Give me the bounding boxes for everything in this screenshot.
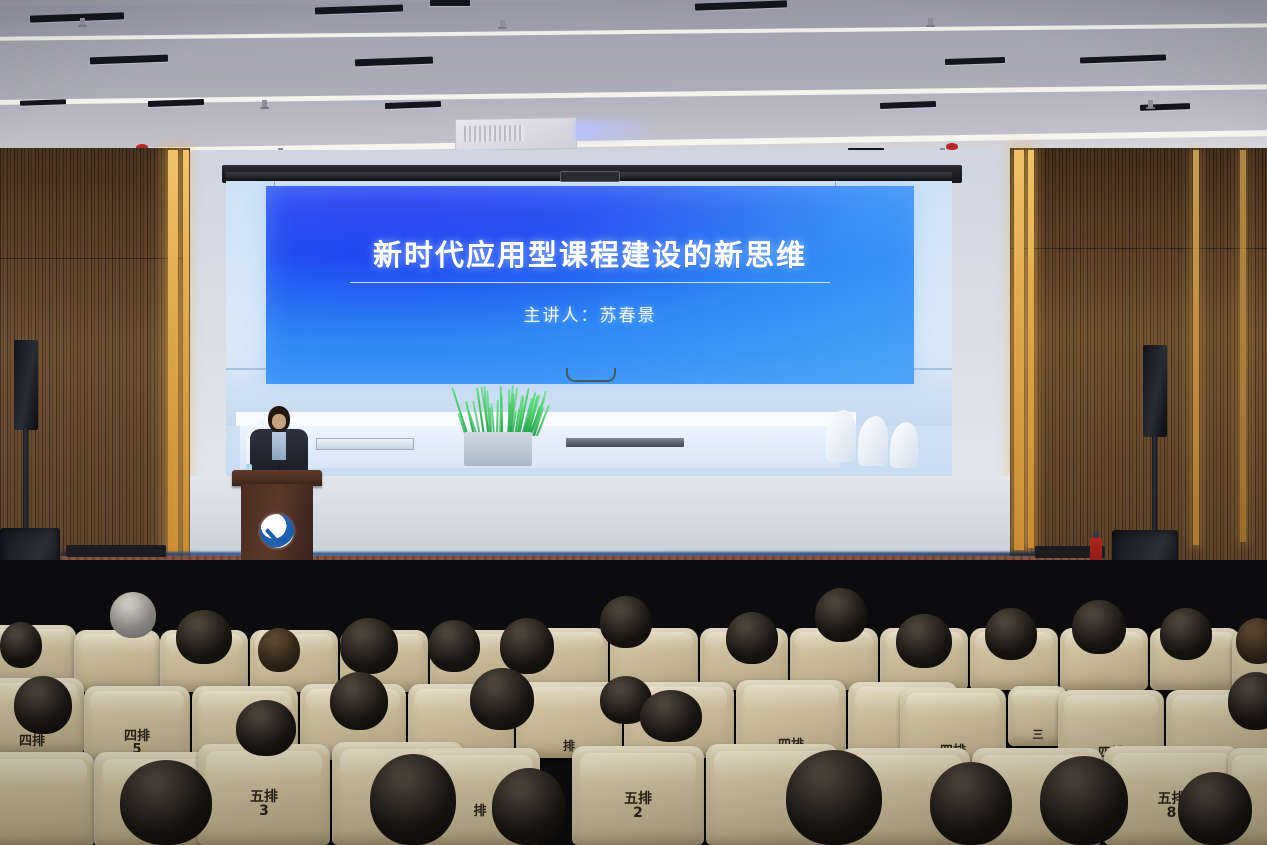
sprinkler-head	[500, 20, 505, 29]
audience-head	[340, 618, 398, 674]
accent-light-strip-right-3	[1193, 150, 1199, 545]
projected-potted-plant	[458, 384, 542, 436]
audience-head	[1160, 608, 1212, 660]
slide-divider	[350, 282, 830, 283]
wall-seam	[0, 258, 190, 259]
ceiling-light-strip	[430, 0, 470, 6]
audience-head	[640, 690, 702, 742]
seat	[0, 752, 94, 845]
seat	[74, 630, 160, 692]
accent-light-strip-left	[168, 150, 178, 562]
projected-chair	[858, 416, 888, 466]
ceiling-ac-unit	[455, 117, 578, 151]
smoke-detector	[946, 143, 958, 150]
presenter-shirt	[272, 432, 286, 460]
audience-head	[600, 596, 652, 648]
projected-chair	[826, 410, 856, 462]
accent-light-strip-left-2	[183, 150, 189, 560]
seat-label: 五排2	[572, 792, 704, 821]
seat-label: 四排	[0, 735, 84, 749]
audience-head	[726, 612, 778, 664]
seat-label: 五排3	[198, 790, 330, 819]
right-speaker-pole	[1152, 435, 1157, 530]
ac-unit-glow	[575, 119, 655, 140]
slide-title: 新时代应用型课程建设的新思维	[266, 232, 914, 274]
sprinkler-head	[928, 18, 933, 27]
audience-head	[0, 622, 42, 668]
audience-head	[330, 672, 388, 730]
seat: 四排5	[84, 686, 190, 762]
left-column-speaker	[14, 340, 38, 430]
sprinkler-head	[1148, 100, 1153, 109]
projected-laptop	[566, 438, 684, 447]
right-column-speaker	[1143, 345, 1167, 437]
presenter-face	[272, 414, 286, 429]
presentation-slide: 新时代应用型课程建设的新思维 主讲人：苏春景	[266, 186, 914, 384]
left-speaker-pole	[23, 428, 28, 528]
audience-head	[110, 592, 156, 638]
stage-floor-box	[66, 545, 166, 557]
audience-head	[815, 588, 867, 642]
slide-subtitle: 主讲人：苏春景	[266, 301, 914, 326]
audience-head	[14, 676, 72, 734]
audience-head	[236, 700, 296, 756]
audience-head	[896, 614, 952, 668]
university-emblem-icon	[260, 514, 294, 548]
audience-head	[1072, 600, 1126, 654]
projection-screen: 新时代应用型课程建设的新思维 主讲人：苏春景	[226, 172, 952, 476]
projected-plant-pot	[464, 432, 532, 466]
screen-pull-handle	[566, 368, 616, 382]
accent-light-strip-right-2	[1028, 150, 1034, 548]
audience-head	[1236, 618, 1267, 664]
projected-photo-background: 新时代应用型课程建设的新思维 主讲人：苏春景	[226, 172, 952, 476]
audience-head	[370, 754, 456, 845]
audience-head	[985, 608, 1037, 660]
projected-chair	[890, 422, 918, 468]
sprinkler-head	[80, 18, 85, 27]
audience-head	[1178, 772, 1252, 845]
audience-head	[786, 750, 882, 845]
wall-seam	[1010, 248, 1267, 249]
audience-head	[176, 610, 232, 664]
audience-head	[1040, 756, 1128, 845]
projected-notepad	[316, 438, 414, 450]
accent-light-strip-right	[1014, 150, 1024, 550]
audience-head	[428, 620, 480, 672]
audience-head	[500, 618, 554, 674]
ceiling	[0, 0, 1267, 160]
seat: 五排3	[198, 744, 330, 845]
audience-head	[470, 668, 534, 730]
slide-sheen	[266, 186, 914, 384]
accent-light-strip-right-4	[1240, 150, 1246, 542]
audience-head	[930, 762, 1012, 845]
sprinkler-head	[262, 100, 267, 109]
seat: 五排2	[572, 746, 704, 845]
lecture-hall-photo: 新时代应用型课程建设的新思维 主讲人：苏春景	[0, 0, 1267, 845]
audience-head	[258, 628, 300, 672]
audience-head	[492, 768, 566, 845]
screen-mount-clip	[560, 171, 620, 182]
audience-head	[120, 760, 212, 845]
